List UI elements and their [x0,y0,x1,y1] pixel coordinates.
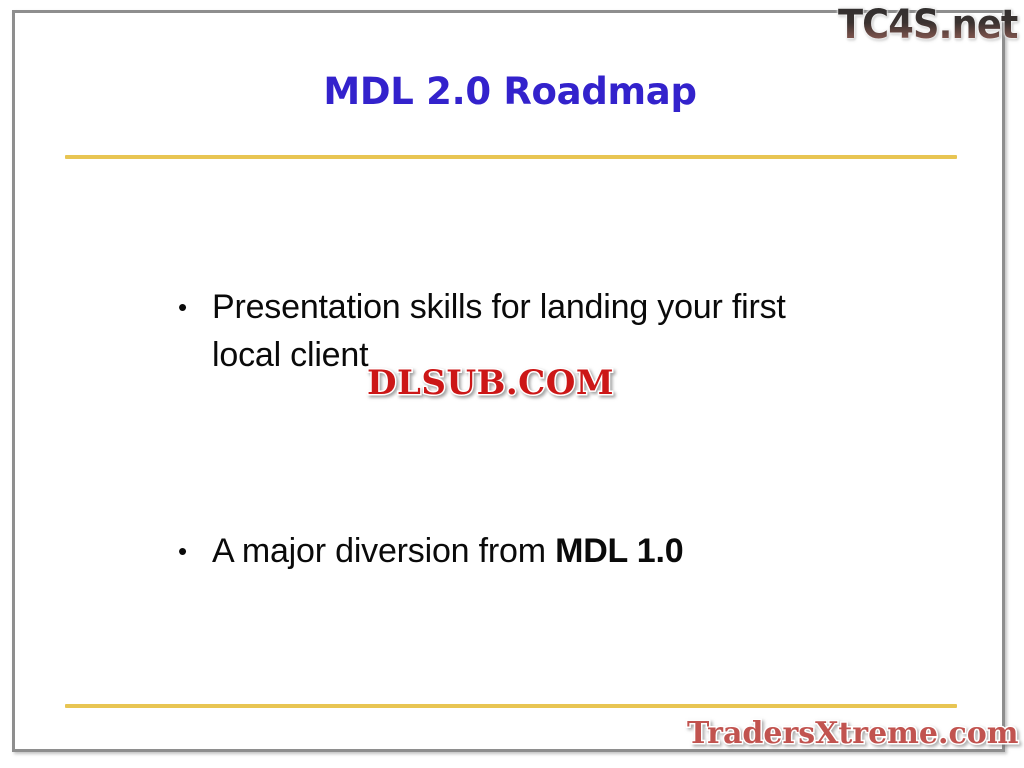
list-item: • A major diversion from MDL 1.0 [170,527,930,575]
bullet-list: • Presentation skills for landing your f… [170,283,930,575]
list-item: • Presentation skills for landing your f… [170,283,930,379]
bullet-marker-icon: • [170,283,212,331]
divider-rule-bottom [65,704,957,708]
slide-root: MDL 2.0 Roadmap • Presentation skills fo… [0,0,1024,768]
list-item-label-leading: A major diversion from [212,532,555,570]
slide-title: MDL 2.0 Roadmap [60,72,960,113]
bullet-marker-icon: • [170,527,212,575]
list-item-label-emphasis: MDL 1.0 [555,532,683,570]
list-item-label: Presentation skills for landing your fir… [212,283,862,379]
divider-rule-top [65,155,957,159]
list-item-label: A major diversion from MDL 1.0 [212,527,862,575]
